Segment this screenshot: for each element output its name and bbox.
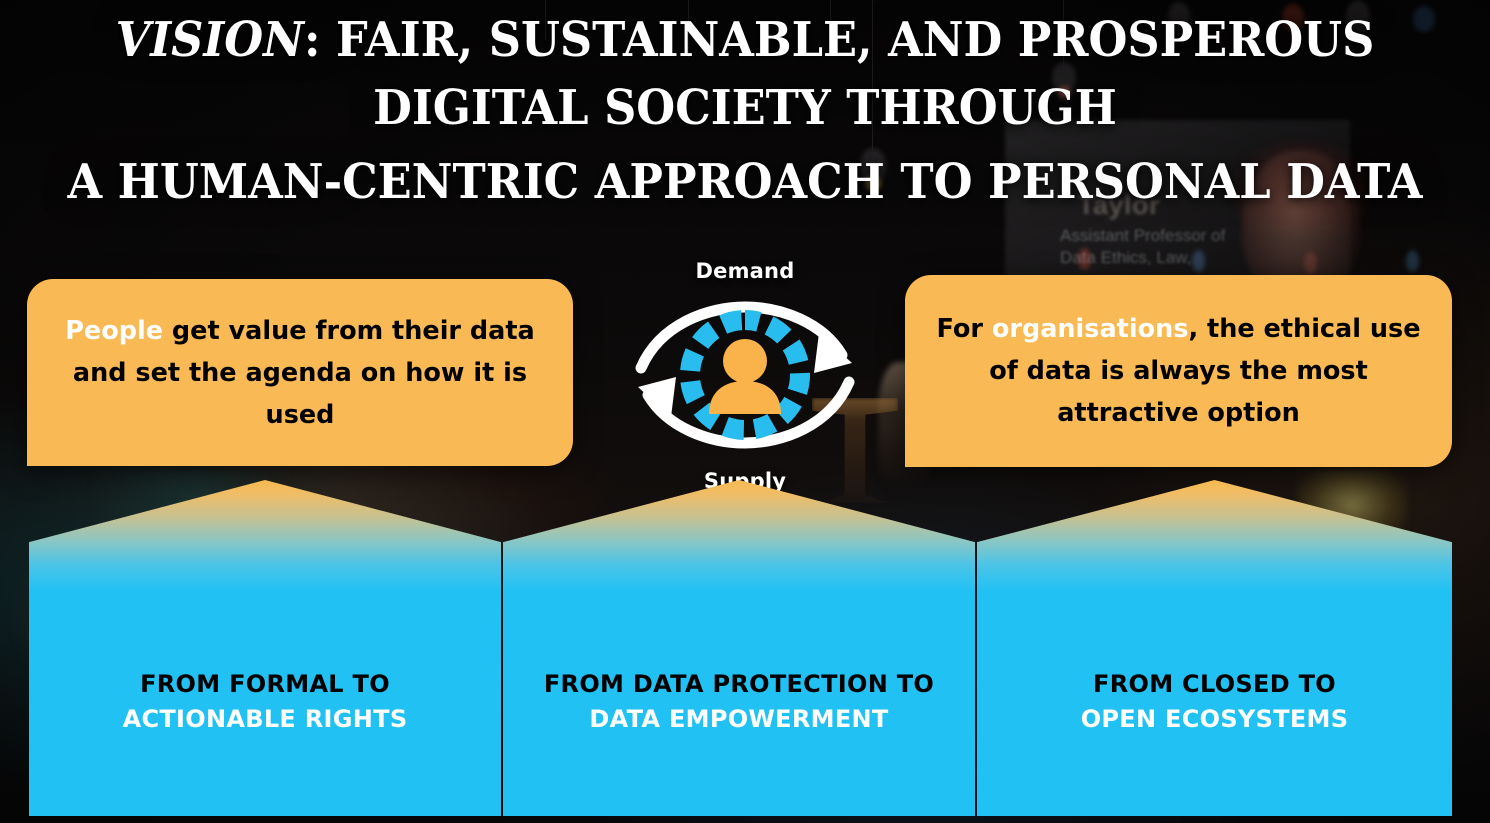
callout-people: People get value from their data and set… [27,279,573,466]
pillar-actionable-rights[interactable]: FROM FORMAL TO ACTIONABLE RIGHTS [29,480,501,816]
pillar-caption-line-2: DATA EMPOWERMENT [503,702,975,737]
pillar-shape [29,480,501,816]
callout-organisations-highlight: organisations [992,314,1189,344]
pillar-open-ecosystems[interactable]: FROM CLOSED TO OPEN ECOSYSTEMS [977,480,1452,816]
callout-organisations: For organisations, the ethical use of da… [905,275,1452,467]
cycle-diagram-svg [620,255,870,495]
pillar-caption-line-2: ACTIONABLE RIGHTS [29,702,501,737]
title-line-1-rest: : FAIR, SUSTAINABLE, AND PROSPEROUS [304,12,1374,68]
pillar-shape [503,480,975,816]
title-vision-word: VISION [116,12,304,68]
pillar-caption: FROM DATA PROTECTION TO DATA EMPOWERMENT [503,667,975,737]
callout-people-highlight: People [65,316,163,346]
pillar-caption-line-2: OPEN ECOSYSTEMS [977,702,1452,737]
person-icon [709,339,781,414]
pillar-shape [977,480,1452,816]
callout-people-text: People get value from their data and set… [53,310,547,436]
title-line-1: VISION: FAIR, SUSTAINABLE, AND PROSPEROU… [52,6,1438,74]
slide-title: VISION: FAIR, SUSTAINABLE, AND PROSPEROU… [52,6,1438,216]
shift-pillars: FROM FORMAL TO ACTIONABLE RIGHTS FROM DA… [0,480,1490,823]
demand-supply-cycle: Demand Supply [620,255,870,495]
title-line-2: DIGITAL SOCIETY THROUGH [52,74,1438,142]
pillar-data-empowerment[interactable]: FROM DATA PROTECTION TO DATA EMPOWERMENT [503,480,975,816]
slide-canvas: Taylor Assistant Professor of Data Ethic… [0,0,1490,823]
title-line-3: A HUMAN-CENTRIC APPROACH TO PERSONAL DAT… [52,148,1438,216]
pillar-caption: FROM FORMAL TO ACTIONABLE RIGHTS [29,667,501,737]
callout-organisations-text: For organisations, the ethical use of da… [931,308,1426,434]
callout-organisations-prefix: For [936,314,991,344]
pillar-caption-line-1: FROM FORMAL TO [29,667,501,702]
pillar-caption: FROM CLOSED TO OPEN ECOSYSTEMS [977,667,1452,737]
pillar-caption-line-1: FROM DATA PROTECTION TO [503,667,975,702]
pillar-caption-line-1: FROM CLOSED TO [977,667,1452,702]
